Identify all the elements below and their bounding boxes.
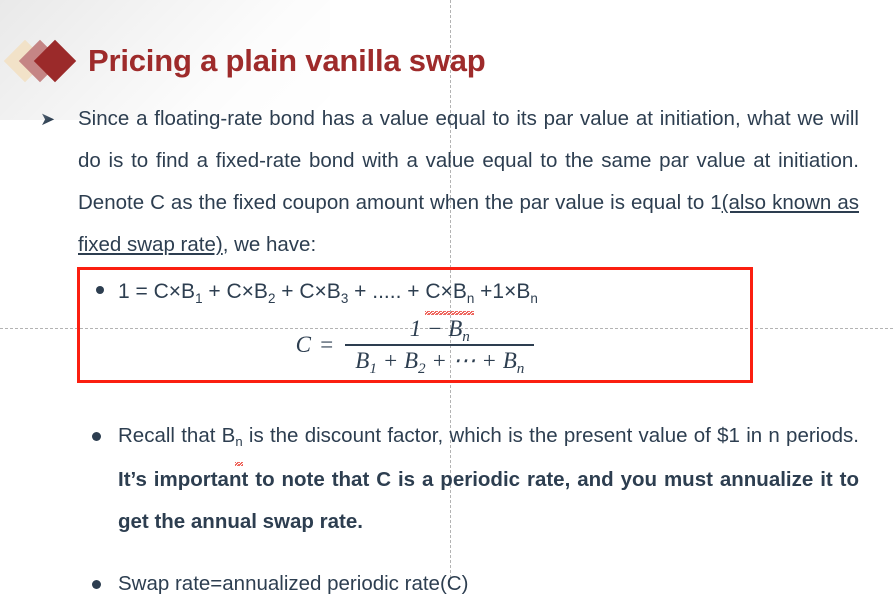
bullet-dot-icon (92, 432, 101, 441)
swap-rate-formula: C = 1 − Bn B1 + B2 + ⋯ + Bn (80, 316, 750, 374)
formula-fraction: 1 − Bn B1 + B2 + ⋯ + Bn (345, 316, 534, 374)
bullet-normal-text: is the discount factor, which is the pre… (243, 424, 859, 447)
equation-plus-5: + (480, 280, 492, 303)
intro-paragraph: ➤Since a floating-rate bond has a value … (0, 98, 893, 266)
equation-term-n-misspelled: C×Bn (425, 275, 474, 311)
equation-plus-2: + (281, 280, 293, 303)
formula-numerator: 1 − Bn (400, 316, 480, 344)
bullet-dot-icon (92, 580, 101, 589)
bullet-item-discount-factor: Recall that Bn is the discount factor, w… (0, 415, 893, 543)
arrow-bullet-icon: ➤ (40, 98, 55, 140)
subscript-n-misspelled: n (235, 421, 242, 463)
bullet-dot-icon (96, 286, 104, 294)
equation-term-3: C×B3 (299, 280, 348, 303)
equation-term-last: 1×Bn (492, 280, 537, 303)
equation-term-1: C×B1 (154, 280, 203, 303)
bullet-lead-text: Recall that Bn (118, 424, 243, 447)
diamond-decoration-group (10, 37, 82, 85)
intro-text-b: , we have: (223, 233, 316, 256)
equation-ellipsis: ..... (372, 280, 401, 303)
slide-title-row: Pricing a plain vanilla swap (10, 33, 486, 89)
bullet-item-swap-rate: Swap rate=annualized periodic rate(C) (0, 563, 893, 605)
equation-plus-1: + (208, 280, 220, 303)
equation-term-2: C×B2 (227, 280, 276, 303)
equation-lhs: 1 = (118, 280, 148, 303)
slide-body: ➤Since a floating-rate bond has a value … (0, 98, 893, 266)
formula-denominator: B1 + B2 + ⋯ + Bn (345, 346, 534, 374)
formula-lhs: C = (296, 332, 336, 358)
equation-plus-3: + (354, 280, 366, 303)
equation-plus-4: + (407, 280, 419, 303)
bullet-bold-text: It’s important to note that C is a perio… (118, 468, 859, 533)
page-title: Pricing a plain vanilla swap (88, 43, 486, 79)
swap-identity-equation: 1 = C×B1 + C×B2 + C×B3 + ..... + C×Bn +1… (96, 275, 538, 311)
bullet-swap-rate-text: Swap rate=annualized periodic rate(C) (118, 572, 468, 595)
lower-bullet-list: Recall that Bn is the discount factor, w… (0, 394, 893, 605)
equation-highlight-box: 1 = C×B1 + C×B2 + C×B3 + ..... + C×Bn +1… (77, 267, 753, 383)
